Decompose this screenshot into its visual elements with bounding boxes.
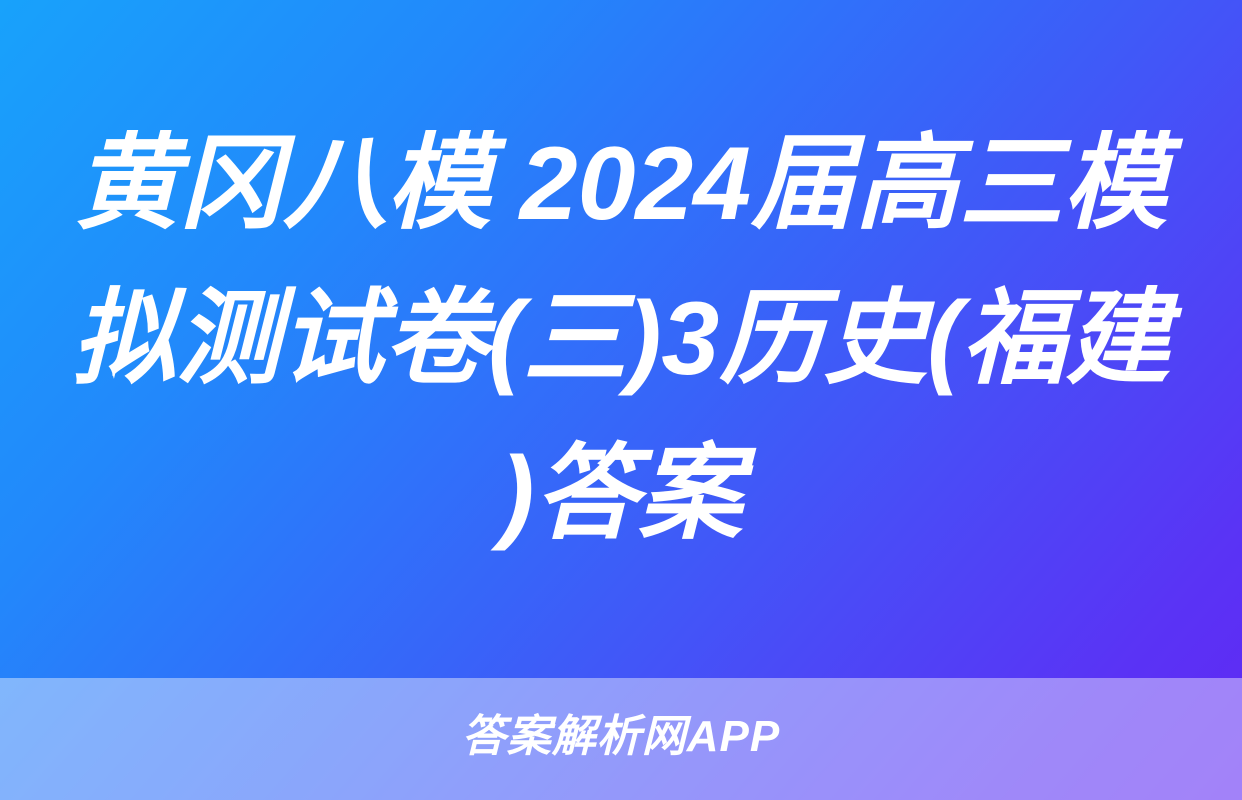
headline-block: 黄冈八模 2024届高三模 拟测试卷(三)3历史(福建 )答案 <box>0 0 1242 678</box>
headline-line-3: )答案 <box>62 417 1180 572</box>
footer-watermark-band: 答案解析网APP <box>0 678 1242 800</box>
share-card: 黄冈八模 2024届高三模 拟测试卷(三)3历史(福建 )答案 答案解析网APP <box>0 0 1242 800</box>
watermark-text: 答案解析网APP <box>462 715 780 759</box>
headline-line-2: 拟测试卷(三)3历史(福建 <box>62 262 1180 417</box>
headline-line-1: 黄冈八模 2024届高三模 <box>62 107 1180 262</box>
